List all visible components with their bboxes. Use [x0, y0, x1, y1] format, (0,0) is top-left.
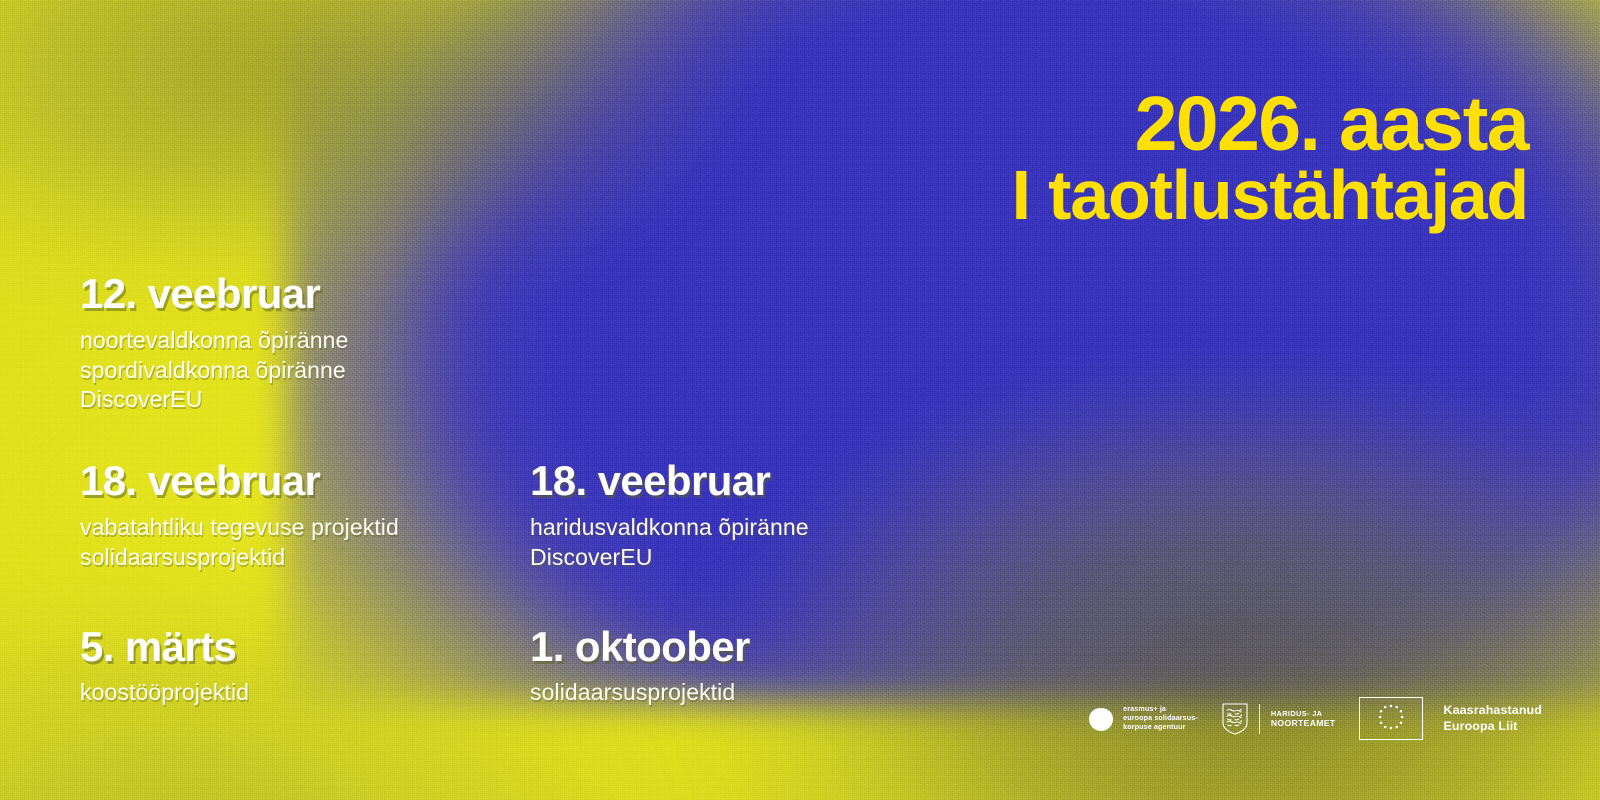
logo-eu-text: Kaasrahastanud Euroopa Liit	[1443, 703, 1542, 733]
deadline-item: koostööprojektid	[80, 678, 530, 708]
deadline-date: 18. veebruar	[530, 459, 980, 503]
logo-harno-line-1: HARIDUS- JA	[1271, 709, 1336, 718]
deadline-block-18-veebruar-haridus: 18. veebruar haridusvaldkonna õpiränne D…	[530, 459, 980, 572]
deadline-item-list: noortevaldkonna õpiränne spordivaldkonna…	[80, 326, 530, 416]
deadline-row-1: 12. veebruar noortevaldkonna õpiränne sp…	[80, 272, 1110, 415]
deadline-item: DiscoverEU	[530, 543, 980, 573]
erasmus-plus-dome-icon	[1088, 706, 1114, 732]
logo-harno: HARIDUS- JA NOORTEAMET	[1222, 703, 1336, 735]
deadline-item: noortevaldkonna õpiränne	[80, 326, 530, 356]
title-line-subtitle: I taotlustähtajad	[1012, 162, 1528, 229]
deadline-block-1-oktoober: 1. oktoober solidaarsusprojektid	[530, 625, 980, 709]
logo-harno-line-2: NOORTEAMET	[1271, 718, 1336, 728]
deadline-date: 5. märts	[80, 625, 530, 669]
logo-european-union: Kaasrahastanud Euroopa Liit	[1359, 697, 1542, 740]
title-line-year: 2026. aasta	[1012, 88, 1528, 162]
background-olive-top-left	[0, 0, 768, 272]
poster-title: 2026. aasta I taotlustähtajad	[1012, 88, 1528, 229]
deadline-block-18-veebruar-solidaarsus: 18. veebruar vabatahtliku tegevuse proje…	[80, 459, 530, 572]
deadline-date: 18. veebruar	[80, 459, 530, 503]
deadline-item: DiscoverEU	[80, 385, 530, 415]
logo-divider	[1259, 704, 1260, 734]
deadline-item-list: vabatahtliku tegevuse projektid solidaar…	[80, 513, 530, 573]
logo-harno-text: HARIDUS- JA NOORTEAMET	[1271, 709, 1336, 729]
deadline-item: solidaarsusprojektid	[80, 543, 530, 573]
deadline-item-list: solidaarsusprojektid	[530, 678, 980, 708]
logo-eu-line-1: Kaasrahastanud	[1443, 703, 1542, 718]
deadline-item: solidaarsusprojektid	[530, 678, 980, 708]
deadline-date: 12. veebruar	[80, 272, 530, 316]
logo-eu-line-2: Euroopa Liit	[1443, 719, 1542, 734]
logo-bar: erasmus+ ja euroopa solidaarsus- korpuse…	[1088, 697, 1542, 740]
deadline-item: vabatahtliku tegevuse projektid	[80, 513, 530, 543]
deadline-item-list: haridusvaldkonna õpiränne DiscoverEU	[530, 513, 980, 573]
estonian-coat-of-arms-icon	[1222, 703, 1248, 735]
deadline-item: haridusvaldkonna õpiränne	[530, 513, 980, 543]
logo-erasmus-line-3: korpuse agentuur	[1123, 723, 1198, 732]
deadline-row-3: 5. märts koostööprojektid 1. oktoober so…	[80, 625, 1110, 709]
deadline-date: 1. oktoober	[530, 625, 980, 669]
eu-flag-stars-icon	[1359, 697, 1423, 740]
deadline-item: spordivaldkonna õpiränne	[80, 356, 530, 386]
deadlines-list: 12. veebruar noortevaldkonna õpiränne sp…	[80, 272, 1110, 708]
poster-canvas: 2026. aasta I taotlustähtajad 12. veebru…	[0, 0, 1600, 800]
deadline-row-2: 18. veebruar vabatahtliku tegevuse proje…	[80, 459, 1110, 572]
deadline-block-5-marts: 5. märts koostööprojektid	[80, 625, 530, 709]
logo-erasmus-text: erasmus+ ja euroopa solidaarsus- korpuse…	[1123, 705, 1198, 731]
logo-erasmus-plus: erasmus+ ja euroopa solidaarsus- korpuse…	[1088, 705, 1198, 731]
deadline-block-12-veebruar: 12. veebruar noortevaldkonna õpiränne sp…	[80, 272, 530, 415]
deadline-item-list: koostööprojektid	[80, 678, 530, 708]
